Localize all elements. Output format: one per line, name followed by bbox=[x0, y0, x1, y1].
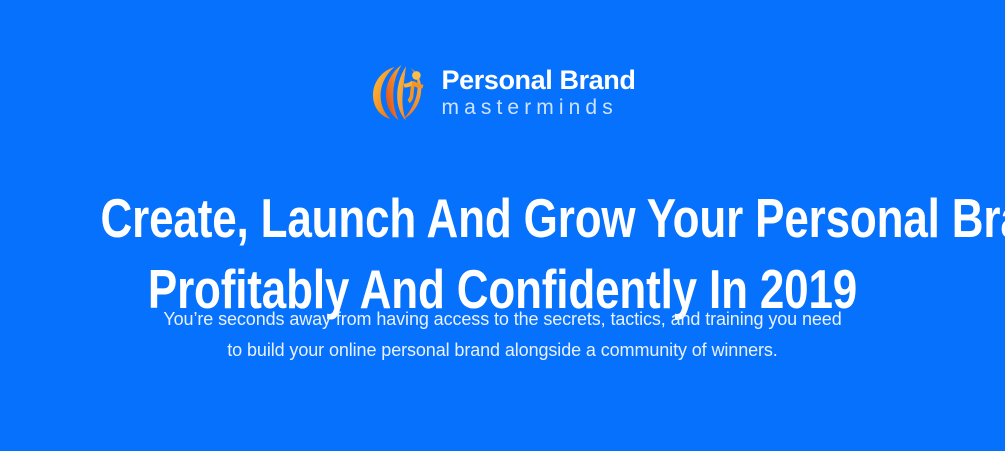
logo-lockup[interactable]: Personal Brand masterminds bbox=[370, 63, 636, 123]
hero-section: Personal Brand masterminds Create, Launc… bbox=[0, 0, 1005, 451]
subheadline-line-1: You’re seconds away from having access t… bbox=[0, 304, 1005, 335]
logo-wordmark: Personal Brand masterminds bbox=[442, 66, 636, 120]
headline-line-1: Create, Launch And Grow Your Personal Br… bbox=[101, 183, 905, 254]
logo-title: Personal Brand bbox=[442, 66, 636, 94]
page-subtitle: You’re seconds away from having access t… bbox=[0, 304, 1005, 366]
brand-logo[interactable]: Personal Brand masterminds bbox=[0, 63, 1005, 123]
personal-brand-masterminds-logo-mark-icon bbox=[370, 63, 432, 123]
subheadline-line-2: to build your online personal brand alon… bbox=[0, 335, 1005, 366]
logo-subtitle: masterminds bbox=[442, 96, 636, 120]
